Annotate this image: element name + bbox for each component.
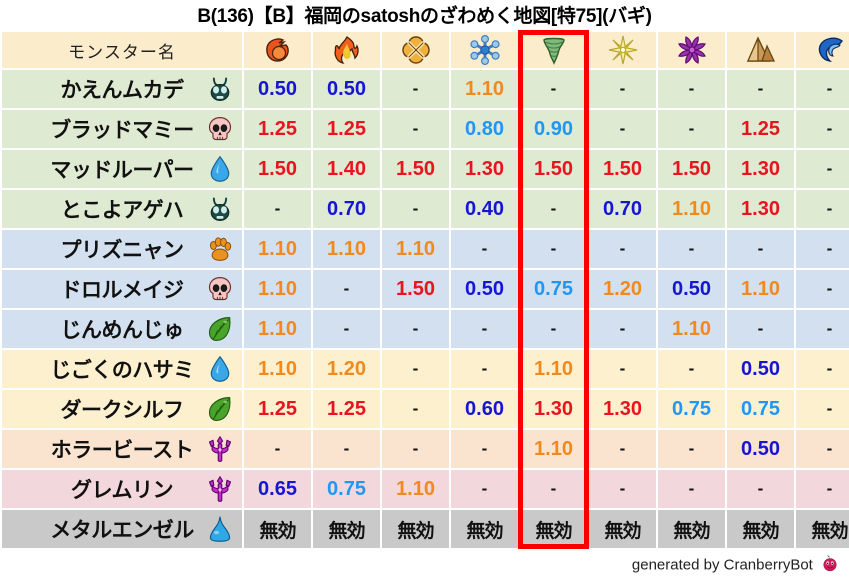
monster-name-label: ドロルメイジ — [61, 274, 184, 304]
monster-name-label: とこよアゲハ — [61, 194, 184, 224]
resistance-value-cell: 無効 — [658, 510, 725, 548]
monster-name-label: メタルエンゼル — [50, 514, 194, 544]
table-body: かえんムカデ0.500.50-1.10-----ブラッドマミー1.251.25-… — [2, 70, 849, 548]
resistance-value-cell: - — [796, 470, 849, 508]
resistance-value-cell: 0.90 — [520, 110, 587, 148]
table-row: ホラービースト----1.10--0.50- — [2, 430, 849, 468]
resistance-value-cell: - — [520, 310, 587, 348]
table-row: じんめんじゅ1.10-----1.10-- — [2, 310, 849, 348]
monster-name-label: グレムリン — [71, 474, 173, 504]
resistance-value-cell: 1.30 — [727, 190, 794, 228]
resistance-value-cell: 1.30 — [589, 390, 656, 428]
snowflake-icon — [469, 34, 501, 66]
resistance-value-cell: - — [313, 310, 380, 348]
skull-icon — [206, 275, 234, 303]
resistance-value-cell: 0.40 — [451, 190, 518, 228]
monster-name-cell[interactable]: メタルエンゼル — [2, 510, 242, 548]
resistance-value-cell: - — [796, 150, 849, 188]
resistance-value-cell: 1.10 — [520, 350, 587, 388]
flame-icon — [331, 34, 363, 66]
table-row: かえんムカデ0.500.50-1.10----- — [2, 70, 849, 108]
monster-name-cell[interactable]: ダークシルフ — [2, 390, 242, 428]
resistance-value-cell: - — [382, 110, 449, 148]
resistance-value-cell: 1.10 — [244, 230, 311, 268]
resistance-value-cell: - — [658, 230, 725, 268]
resistance-value-cell: - — [520, 470, 587, 508]
table-row: とこよアゲハ-0.70-0.40-0.701.101.30- — [2, 190, 849, 228]
demon-trident-icon — [206, 475, 234, 503]
column-header-element-5[interactable] — [589, 32, 656, 68]
column-header-element-4[interactable] — [520, 32, 587, 68]
resistance-value-cell: 0.70 — [589, 190, 656, 228]
resistance-value-cell: - — [796, 230, 849, 268]
resistance-value-cell: - — [451, 310, 518, 348]
monster-name-label: プリズニャン — [61, 234, 184, 264]
resistance-value-cell: - — [589, 430, 656, 468]
skull-icon — [206, 115, 234, 143]
resistance-value-cell: - — [589, 310, 656, 348]
resistance-value-cell: 0.75 — [520, 270, 587, 308]
monster-name-label: ホラービースト — [51, 434, 193, 464]
explosion-icon — [400, 34, 432, 66]
resistance-value-cell: 1.10 — [382, 470, 449, 508]
resistance-value-cell: 0.60 — [451, 390, 518, 428]
monster-name-cell[interactable]: グレムリン — [2, 470, 242, 508]
resistance-value-cell: 1.25 — [244, 390, 311, 428]
resistance-value-cell: - — [796, 190, 849, 228]
sparkle-star-icon — [607, 34, 639, 66]
resistance-value-cell: - — [520, 190, 587, 228]
resistance-value-cell: 無効 — [313, 510, 380, 548]
resistance-value-cell: 1.20 — [589, 270, 656, 308]
resistance-matrix-table: モンスター名 — [0, 30, 849, 550]
resistance-value-cell: - — [244, 430, 311, 468]
resistance-value-cell: - — [451, 350, 518, 388]
monster-name-label: かえんムカデ — [61, 74, 184, 104]
resistance-value-cell: - — [796, 430, 849, 468]
resistance-value-cell: 0.75 — [727, 390, 794, 428]
purple-swirl-icon — [676, 34, 708, 66]
resistance-value-cell: 1.50 — [244, 150, 311, 188]
resistance-value-cell: 1.50 — [658, 150, 725, 188]
resistance-value-cell: - — [589, 470, 656, 508]
resistance-value-cell: 無効 — [727, 510, 794, 548]
resistance-value-cell: - — [451, 230, 518, 268]
monster-name-cell[interactable]: じんめんじゅ — [2, 310, 242, 348]
footer-credit: generated by CranberryBot — [632, 554, 839, 577]
resistance-value-cell: 1.10 — [520, 430, 587, 468]
resistance-value-cell: - — [727, 70, 794, 108]
resistance-value-cell: 1.10 — [244, 350, 311, 388]
monster-name-cell[interactable]: かえんムカデ — [2, 70, 242, 108]
monster-name-cell[interactable]: ドロルメイジ — [2, 270, 242, 308]
monster-name-label: ブラッドマミー — [50, 114, 194, 144]
resistance-value-cell: 1.20 — [313, 350, 380, 388]
table-row: ドロルメイジ1.10-1.500.500.751.200.501.10- — [2, 270, 849, 308]
column-header-element-8[interactable] — [796, 32, 849, 68]
resistance-value-cell: 無効 — [382, 510, 449, 548]
resistance-value-cell: 0.65 — [244, 470, 311, 508]
header-row: モンスター名 — [2, 32, 849, 68]
resistance-value-cell: - — [382, 430, 449, 468]
resistance-value-cell: 1.10 — [244, 310, 311, 348]
resistance-value-cell: 1.50 — [589, 150, 656, 188]
resistance-value-cell: 1.25 — [313, 390, 380, 428]
resistance-value-cell: 1.25 — [313, 110, 380, 148]
mountain-icon — [745, 34, 777, 66]
monster-name-label: マッドルーパー — [50, 154, 193, 184]
footer-text: generated by CranberryBot — [632, 556, 813, 573]
resistance-value-cell: 1.10 — [658, 310, 725, 348]
resistance-value-cell: - — [658, 470, 725, 508]
resistance-value-cell: - — [658, 430, 725, 468]
resistance-value-cell: 1.10 — [313, 230, 380, 268]
column-header-element-7[interactable] — [727, 32, 794, 68]
monster-name-cell[interactable]: プリズニャン — [2, 230, 242, 268]
resistance-value-cell: 1.25 — [244, 110, 311, 148]
resistance-value-cell: - — [382, 70, 449, 108]
resistance-value-cell: 0.75 — [658, 390, 725, 428]
resistance-value-cell: 1.30 — [451, 150, 518, 188]
resistance-value-cell: 0.80 — [451, 110, 518, 148]
column-header-element-0[interactable] — [244, 32, 311, 68]
resistance-value-cell: - — [796, 350, 849, 388]
water-drop-icon — [206, 355, 234, 383]
resistance-value-cell: 無効 — [451, 510, 518, 548]
bug-icon — [206, 75, 234, 103]
resistance-value-cell: 0.50 — [313, 70, 380, 108]
table-row: ブラッドマミー1.251.25-0.800.90--1.25- — [2, 110, 849, 148]
resistance-value-cell: - — [589, 70, 656, 108]
resistance-value-cell: 1.40 — [313, 150, 380, 188]
resistance-value-cell: 1.10 — [244, 270, 311, 308]
table-header: モンスター名 — [2, 32, 849, 68]
resistance-value-cell: - — [451, 470, 518, 508]
resistance-value-cell: 無効 — [244, 510, 311, 548]
resistance-value-cell: 無効 — [796, 510, 849, 548]
resistance-value-cell: 0.50 — [658, 270, 725, 308]
demon-trident-icon — [206, 435, 234, 463]
wave-icon — [814, 34, 846, 66]
resistance-value-cell: 1.10 — [658, 190, 725, 228]
resistance-value-cell: - — [382, 310, 449, 348]
resistance-value-cell: 0.50 — [244, 70, 311, 108]
resistance-value-cell: - — [796, 110, 849, 148]
table-row: マッドルーパー1.501.401.501.301.501.501.501.30- — [2, 150, 849, 188]
resistance-value-cell: - — [658, 350, 725, 388]
resistance-value-cell: 0.75 — [313, 470, 380, 508]
resistance-value-cell: 1.30 — [520, 390, 587, 428]
resistance-value-cell: - — [589, 350, 656, 388]
resistance-value-cell: 0.50 — [727, 350, 794, 388]
paw-icon — [206, 235, 234, 263]
cranberry-icon — [821, 554, 839, 577]
page-title: B(136)【B】福岡のsatoshのざわめく地図[特75](バギ) — [0, 0, 849, 30]
resistance-value-cell: - — [589, 110, 656, 148]
column-header-element-1[interactable] — [313, 32, 380, 68]
table-row: じごくのハサミ1.101.20--1.10--0.50- — [2, 350, 849, 388]
monster-name-label: じんめんじゅ — [61, 314, 184, 344]
resistance-value-cell: 無効 — [520, 510, 587, 548]
resistance-value-cell: 0.70 — [313, 190, 380, 228]
resistance-value-cell: - — [727, 230, 794, 268]
resistance-value-cell: - — [796, 310, 849, 348]
resistance-value-cell: - — [520, 70, 587, 108]
monster-name-cell[interactable]: ホラービースト — [2, 430, 242, 468]
resistance-value-cell: 1.10 — [727, 270, 794, 308]
resistance-value-cell: 1.50 — [382, 150, 449, 188]
monster-name-cell[interactable]: ブラッドマミー — [2, 110, 242, 148]
leaf-icon — [206, 395, 234, 423]
resistance-value-cell: 1.30 — [727, 150, 794, 188]
resistance-value-cell: 1.10 — [382, 230, 449, 268]
resistance-value-cell: - — [313, 430, 380, 468]
monster-name-cell[interactable]: とこよアゲハ — [2, 190, 242, 228]
monster-name-cell[interactable]: じごくのハサミ — [2, 350, 242, 388]
resistance-value-cell: - — [451, 430, 518, 468]
resistance-value-cell: - — [658, 110, 725, 148]
water-drop-icon — [206, 155, 234, 183]
resistance-value-cell: 無効 — [589, 510, 656, 548]
resistance-value-cell: - — [796, 70, 849, 108]
resistance-value-cell: 0.50 — [727, 430, 794, 468]
resistance-value-cell: 1.10 — [451, 70, 518, 108]
resistance-value-cell: - — [382, 350, 449, 388]
column-header-element-2[interactable] — [382, 32, 449, 68]
resistance-value-cell: - — [796, 390, 849, 428]
resistance-value-cell: 1.25 — [727, 110, 794, 148]
resistance-value-cell: - — [796, 270, 849, 308]
resistance-value-cell: - — [727, 470, 794, 508]
resistance-value-cell: 1.50 — [382, 270, 449, 308]
monster-name-label: ダークシルフ — [61, 394, 184, 424]
resistance-value-cell: - — [382, 190, 449, 228]
leaf-icon — [206, 315, 234, 343]
slime-icon — [206, 515, 234, 543]
wind-tornado-icon — [538, 34, 570, 66]
meteor-fire-icon — [262, 34, 294, 66]
table-row: プリズニャン1.101.101.10------ — [2, 230, 849, 268]
table-row: グレムリン0.650.751.10------ — [2, 470, 849, 508]
table-row: メタルエンゼル無効無効無効無効無効無効無効無効無効 — [2, 510, 849, 548]
column-header-element-3[interactable] — [451, 32, 518, 68]
resistance-value-cell: - — [382, 390, 449, 428]
column-header-monster-name: モンスター名 — [2, 32, 242, 68]
monster-name-cell[interactable]: マッドルーパー — [2, 150, 242, 188]
resistance-value-cell: - — [244, 190, 311, 228]
resistance-value-cell: 0.50 — [451, 270, 518, 308]
monster-name-label: じごくのハサミ — [50, 354, 194, 384]
resistance-value-cell: - — [658, 70, 725, 108]
table-row: ダークシルフ1.251.25-0.601.301.300.750.75- — [2, 390, 849, 428]
resistance-value-cell: - — [520, 230, 587, 268]
resistance-value-cell: - — [313, 270, 380, 308]
resistance-value-cell: - — [589, 230, 656, 268]
resistance-value-cell: 1.50 — [520, 150, 587, 188]
bug-icon — [206, 195, 234, 223]
column-header-element-6[interactable] — [658, 32, 725, 68]
resistance-value-cell: - — [727, 310, 794, 348]
